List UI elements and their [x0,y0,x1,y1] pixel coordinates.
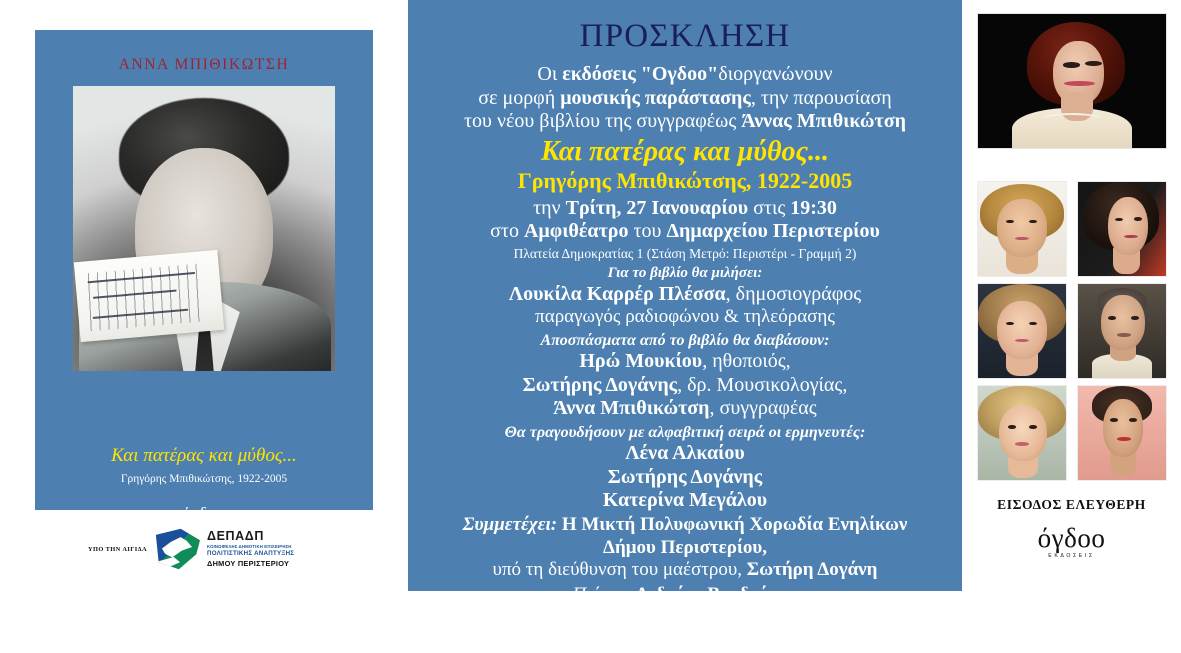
reader-name: Ηρώ Μουκίου [579,350,702,372]
conductor-prefix: υπό τη διεύθυνση του μαέστρου, [493,559,747,580]
auspices-logo-block: ΥΠΟ ΤΗΝ ΑΙΓΙΔΑ ΔΕΠΑΔΠ ΚΟΙΝΩΦΕΛΗΣ ΔΗΜΟΤΙΚ… [88,520,318,578]
reader-line: Σωτήρης Δογάνης, δρ. Μουσικολογίας, [408,374,962,397]
portrait-eye-left [1063,62,1080,67]
event-address: Πλατεία Δημοκρατίας 1 (Στάση Μετρό: Περι… [408,246,962,262]
choir-line-2: Δήμου Περιστερίου, [408,537,962,559]
portrait-necklace [1042,113,1102,126]
piano-name: Ανδρέας Βουδούρης [635,584,798,605]
venue-name: Δημαρχείου Περιστερίου [666,220,879,242]
portrait-eye-left [1108,316,1116,320]
portrait-mouth [1117,437,1131,441]
portrait-face [997,301,1046,359]
conductor-name: Σωτήρη Δογάνη [747,559,878,580]
choir-line-1: Συμμετέχει: Η Μικτή Πολυφωνική Χορωδία Ε… [408,514,962,536]
host-role: δημοσιογράφος, παρουσιάτρια [408,631,962,653]
event-date-line: την Τρίτη, 27 Ιανουαρίου στις 19:30 [408,197,962,220]
dove-body [162,535,192,561]
portrait-photo-4 [1078,284,1166,378]
depadp-line-3: ΔΗΜΟΥ ΠΕΡΙΣΤΕΡΙΟΥ [207,559,294,568]
host-name: Αθηνά Καμπάκογλου, [649,608,826,629]
organizer-prefix: Οι [537,63,562,85]
portrait-render [978,284,1066,378]
author-name: Άννας Μπιθικώτση [741,110,906,132]
event-book-title: Και πατέρας και μύθος... [408,136,962,169]
organizer-line-1: Οι εκδόσεις "Ογδοο"διοργανώνουν [408,63,962,86]
dove-tail [158,557,180,568]
format-prefix: σε μορφή [478,87,560,109]
portrait-render [978,182,1066,276]
reader-line: Άννα Μπιθικώτση, συγγραφέας [408,397,962,420]
speaker-intro-label: Για το βιβλίο θα μιλήσει: [408,265,962,283]
dove-icon [154,527,200,571]
piano-line: Πιάνο : Ανδρέας Βουδούρης [408,584,962,606]
portrait-photo-6 [1078,386,1166,480]
portrait-render [1078,284,1166,378]
portrait-render [978,14,1166,148]
singer-name: Σωτήρης Δογάνης [408,466,962,489]
host-line: Συντονισμός: Αθηνά Καμπάκογλου, [408,608,962,630]
format-suffix: , την παρουσίαση [751,87,892,109]
book-cover-subtitle: Γρηγόρης Μπιθικώτσης, 1922-2005 [35,473,373,485]
portrait-eye-right [1134,217,1142,221]
choir-line-3: υπό τη διεύθυνση του μαέστρου, Σωτήρη Δο… [408,559,962,581]
venue-mid: του [629,220,667,242]
portrait-face [999,405,1047,461]
portrait-mouth [1117,333,1131,337]
speaker-role: , δημοσιογράφος [726,283,862,305]
publisher-logo-subtitle: ΕΚΔΟΣΕΙΣ [962,553,1181,559]
reader-role: , ηθοποιός, [702,350,790,372]
depadp-acronym: ΔΕΠΑΔΠ [207,530,294,543]
event-time: 19:30 [790,197,837,219]
portrait-render [978,386,1066,480]
portrait-face [1103,399,1143,457]
portrait-eye-left [1110,418,1118,422]
format-emphasis: μουσικής παράστασης [560,87,751,109]
portrait-face [997,199,1046,257]
book-cover-author: ΑΝΝΑ ΜΠΙΘΙΚΩΤΣΗ [35,56,373,74]
portrait-render [1078,386,1166,480]
publisher-logo: όγδοο ΕΚΔΟΣΕΙΣ [962,525,1181,559]
choir-name: Η Μικτή Πολυφωνική Χορωδία Ενηλίκων [557,514,907,535]
publisher-logo-word: όγδοο [962,525,1181,552]
book-cover-panel: ΑΝΝΑ ΜΠΙΘΙΚΩΤΣΗ Και πατέρας και μύθος...… [0,0,408,591]
auspices-label: ΥΠΟ ΤΗΝ ΑΙΓΙΔΑ [88,546,147,553]
speaker-role-line-2: παραγωγός ραδιοφώνου & τηλεόρασης [408,306,962,328]
depadp-text-block: ΔΕΠΑΔΠ ΚΟΙΝΩΦΕΛΗΣ ΔΗΜΟΤΙΚΗ ΕΠΙΧΕΙΡΗΣΗ ΠΟ… [207,530,294,568]
reader-line: Ηρώ Μουκίου, ηθοποιός, [408,350,962,373]
organizer-line-2: σε μορφή μουσικής παράστασης, την παρουσ… [408,87,962,110]
singer-name: Λένα Αλκαίου [408,442,962,465]
photo-grid-panel: ΕΙΣΟΔΟΣ ΕΛΕΥΘΕΡΗ όγδοο ΕΚΔΟΣΕΙΣ [962,0,1181,591]
event-venue-line: στο Αμφιθέατρο του Δημαρχείου Περιστερίο… [408,220,962,243]
venue-type: Αμφιθέατρο [524,220,629,242]
date-prefix: την [533,197,566,219]
speaker-line: Λουκίλα Καρρέρ Πλέσσα, δημοσιογράφος [408,283,962,306]
portrait-photo-2 [1078,182,1166,276]
venue-prefix: στο [490,220,524,242]
portrait-face [1108,197,1148,255]
singers-intro-label: Θα τραγουδήσουν με αλφαβιτική σειρά οι ε… [408,424,962,443]
depadp-line-2: ΠΟΛΙΤΙΣΤΙΚΗΣ ΑΝΑΠΤΥΞΗΣ [207,550,294,558]
choir-label: Συμμετέχει: [463,514,557,535]
handwritten-note-overlay [74,250,224,342]
author-prefix: του νέου βιβλίου της συγγραφέως [464,110,741,132]
event-date: Τρίτη, 27 Ιανουαρίου [566,197,749,219]
publisher-name: εκδόσεις "Ογδοο" [562,63,718,85]
event-book-subtitle: Γρηγόρης Μπιθικώτσης, 1922-2005 [408,168,962,194]
portrait-photo-5 [978,386,1066,480]
book-cover-image: ΑΝΝΑ ΜΠΙΘΙΚΩΤΣΗ Και πατέρας και μύθος...… [35,30,373,510]
portrait-photo-1 [978,182,1066,276]
admission-notice: ΕΙΣΟΔΟΣ ΕΛΕΥΘΕΡΗ [962,497,1181,513]
portrait-eye-right [1129,418,1137,422]
reader-name: Άννα Μπιθικώτση [553,397,709,419]
depadp-line-1: ΚΟΙΝΩΦΕΛΗΣ ΔΗΜΟΤΙΚΗ ΕΠΙΧΕΙΡΗΣΗ [207,544,294,549]
host-label: Συντονισμός: [544,608,650,629]
portrait-face [1101,295,1145,350]
book-cover-portrait-photo [73,86,335,371]
time-prefix: στις [748,197,790,219]
portrait-render [1078,182,1166,276]
speaker-name: Λουκίλα Καρρέρ Πλέσσα [509,283,726,305]
reader-role: , συγγραφέας [710,397,817,419]
singer-name: Κατερίνα Μεγάλου [408,489,962,512]
readers-intro-label: Αποσπάσματα από το βιβλίο θα διαβάσουν: [408,332,962,351]
portrait-eye-right [1131,316,1139,320]
invitation-heading: ΠΡΟΣΚΛΗΣΗ [408,18,962,54]
organizer-suffix: διοργανώνουν [718,63,832,85]
organizer-line-3: του νέου βιβλίου της συγγραφέως Άννας Μπ… [408,110,962,133]
reader-role: , δρ. Μουσικολογίας, [677,374,847,396]
reader-name: Σωτήρης Δογάνης [523,374,677,396]
portrait-photo-hero [978,14,1166,148]
invitation-panel: ΠΡΟΣΚΛΗΣΗ Οι εκδόσεις "Ογδοο"διοργανώνου… [408,0,962,591]
portrait-photo-3 [978,284,1066,378]
book-cover-title: Και πατέρας και μύθος... [35,445,373,467]
piano-label: Πιάνο : [572,584,635,605]
book-cover-publisher-logo: όγδοο [35,504,373,510]
